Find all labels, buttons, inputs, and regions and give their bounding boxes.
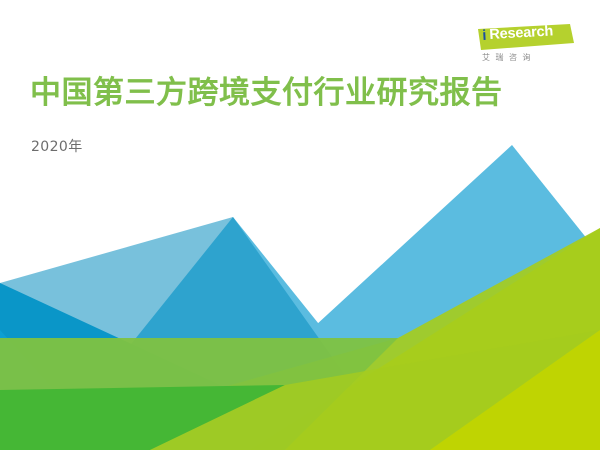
page-title: 中国第三方跨境支付行业研究报告 — [30, 74, 503, 113]
report-year: 2020年 — [31, 136, 83, 156]
logo-subtitle-chinese: 艾瑞咨询 — [482, 52, 574, 63]
iresearch-logo: i Research 艾瑞咨询 — [478, 24, 574, 68]
logo-initial-i: i — [482, 27, 487, 43]
report-cover-page: i Research 艾瑞咨询 中国第三方跨境支付行业研究报告 2020年 — [0, 0, 600, 450]
